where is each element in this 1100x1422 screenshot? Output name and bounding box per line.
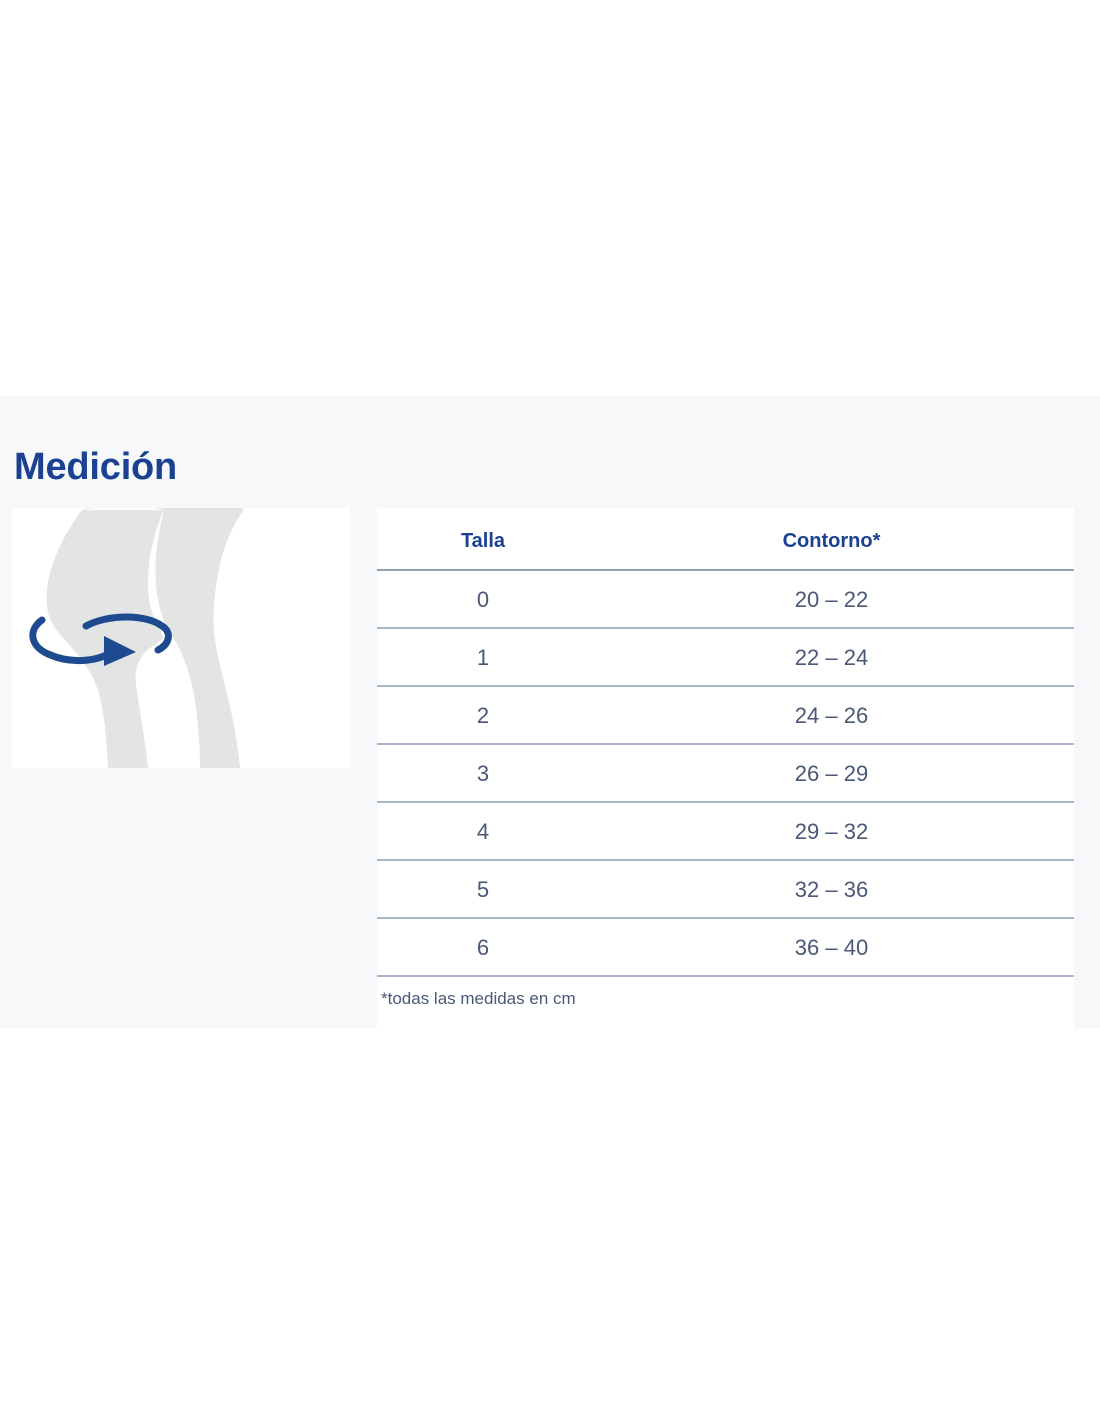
table-row: 4 29 – 32 <box>377 802 1074 860</box>
column-header-girth: Contorno* <box>589 508 1074 570</box>
table-row: 6 36 – 40 <box>377 918 1074 976</box>
cell-girth: 32 – 36 <box>589 860 1074 918</box>
cell-size: 0 <box>377 570 589 628</box>
page-title: Medición <box>14 444 177 490</box>
silhouette-torso <box>82 508 244 510</box>
table-body: 0 20 – 22 1 22 – 24 2 24 – 26 3 26 – 29 … <box>377 570 1074 976</box>
table-row: 0 20 – 22 <box>377 570 1074 628</box>
column-header-size: Talla <box>377 508 589 570</box>
cell-size: 6 <box>377 918 589 976</box>
cell-size: 1 <box>377 628 589 686</box>
size-chart-table: Talla Contorno* 0 20 – 22 1 22 – 24 2 24… <box>377 508 1074 977</box>
thigh-circumference-measurement-icon <box>12 508 350 768</box>
table-header: Talla Contorno* <box>377 508 1074 570</box>
cell-girth: 24 – 26 <box>589 686 1074 744</box>
cell-size: 5 <box>377 860 589 918</box>
cell-girth: 26 – 29 <box>589 744 1074 802</box>
cell-size: 2 <box>377 686 589 744</box>
cell-girth: 22 – 24 <box>589 628 1074 686</box>
table-header-row: Talla Contorno* <box>377 508 1074 570</box>
table-row: 3 26 – 29 <box>377 744 1074 802</box>
table-row: 5 32 – 36 <box>377 860 1074 918</box>
measurement-illustration-panel <box>12 508 350 768</box>
table-row: 2 24 – 26 <box>377 686 1074 744</box>
table-footnote: *todas las medidas en cm <box>377 977 1074 1009</box>
cell-size: 4 <box>377 802 589 860</box>
cell-girth: 36 – 40 <box>589 918 1074 976</box>
table-row: 1 22 – 24 <box>377 628 1074 686</box>
size-table-panel: Talla Contorno* 0 20 – 22 1 22 – 24 2 24… <box>377 508 1074 1028</box>
cell-girth: 20 – 22 <box>589 570 1074 628</box>
cell-girth: 29 – 32 <box>589 802 1074 860</box>
cell-size: 3 <box>377 744 589 802</box>
